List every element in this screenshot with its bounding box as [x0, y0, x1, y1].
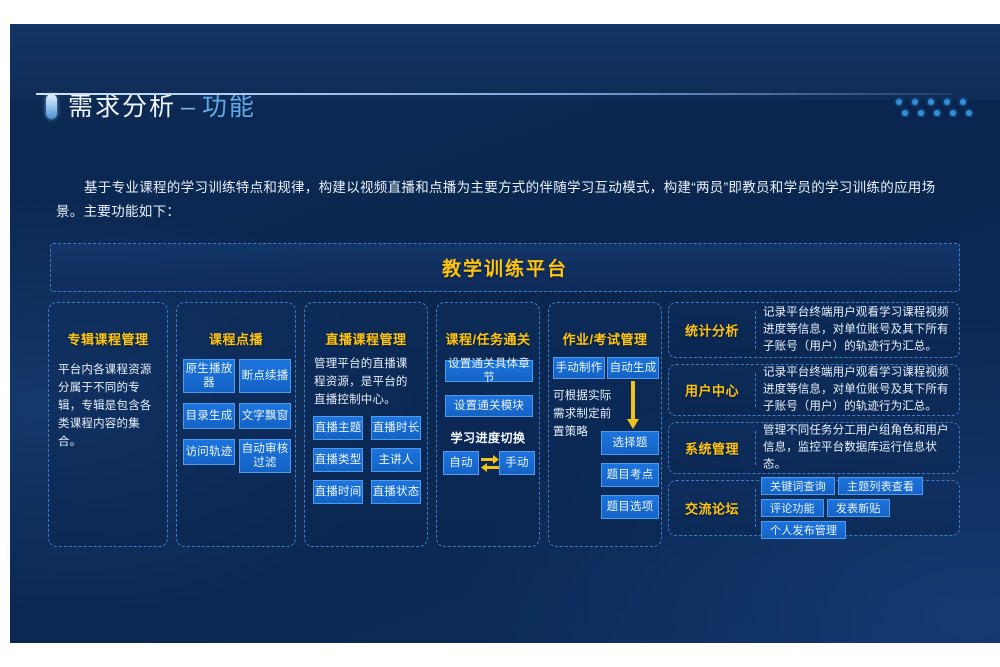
right-feature-row: 系统管理管理不同任务分工用户组角色和用户信息，监控平台数据库运行信息状态。 [668, 422, 960, 474]
feature-button[interactable]: 选择题 [601, 431, 659, 455]
right-feature-label: 交流论坛 [669, 499, 755, 518]
feature-button[interactable]: 题目考点 [601, 463, 659, 487]
tag-button[interactable]: 发表新贴 [827, 499, 890, 517]
toggle-manual-button[interactable]: 手动 [499, 451, 535, 475]
feature-column: 专辑课程管理平台内各课程资源分属于不同的专辑，专辑是包含各类课程内容的集合。 [48, 302, 168, 547]
right-feature-text: 记录平台终端用户观看学习课程视频进度等信息，对单位账号及其下所有子账号（用户）的… [763, 365, 951, 416]
platform-banner-title: 教学训练平台 [442, 254, 568, 281]
title-separator: – [181, 93, 197, 121]
feature-column: 课程点播原生播放器断点续播目录生成文字飘窗访问轨迹自动审核过滤 [176, 302, 296, 547]
tag-button[interactable]: 个人发布管理 [761, 521, 846, 539]
feature-column: 直播课程管理管理平台的直播课程资源，是平台的直播控制中心。直播主题直播时长直播类… [304, 302, 428, 547]
down-arrow-icon [625, 381, 641, 431]
right-feature-text: 管理不同任务分工用户组角色和用户信息，监控平台数据库运行信息状态。 [763, 423, 951, 474]
page-title-sub: 功能 [202, 93, 256, 121]
toggle-auto-button[interactable]: 自动 [443, 451, 479, 475]
dot [918, 110, 924, 116]
dot [960, 99, 966, 105]
tag-button[interactable]: 评论功能 [761, 499, 824, 517]
feature-button[interactable]: 直播类型 [313, 448, 363, 472]
feature-button[interactable]: 访问轨迹 [183, 439, 235, 465]
feature-column-description: 管理平台的直播课程资源，是平台的直播控制中心。 [314, 355, 418, 409]
feature-button[interactable]: 目录生成 [183, 403, 235, 429]
dot [950, 110, 956, 116]
feature-column: 作业/考试管理手动制作自动生成可根据实际需求制定前置策略选择题题目考点题目选项 [548, 302, 662, 547]
page-title-main: 需求分析 [68, 93, 176, 121]
page-title: 需求分析–功能 [68, 91, 256, 123]
right-feature-row: 统计分析记录平台终端用户观看学习课程视频进度等信息，对单位账号及其下所有子账号（… [668, 302, 960, 358]
right-feature-label: 统计分析 [669, 321, 755, 340]
feature-button[interactable]: 直播时间 [313, 480, 363, 504]
feature-button[interactable]: 断点续播 [239, 359, 291, 393]
feature-button[interactable]: 直播状态 [371, 480, 421, 504]
row-divider [755, 489, 756, 527]
feature-column-title: 作业/考试管理 [549, 329, 661, 348]
row-divider [755, 431, 756, 465]
feature-button[interactable]: 直播时长 [371, 416, 421, 440]
feature-button[interactable]: 原生播放器 [183, 359, 235, 393]
right-feature-row: 用户中心记录平台终端用户观看学习课程视频进度等信息，对单位账号及其下所有子账号（… [668, 364, 960, 416]
title-accent-bar [46, 94, 57, 119]
right-feature-text: 记录平台终端用户观看学习课程视频进度等信息，对单位账号及其下所有子账号（用户）的… [763, 305, 951, 356]
tag-button[interactable]: 关键词查询 [761, 477, 835, 495]
dot [966, 110, 972, 116]
dot [944, 99, 950, 105]
bidirectional-arrow-icon [479, 451, 501, 475]
slide-canvas: 需求分析–功能 基于专业课程的学习训练特点和规律，构建以视频直播和点播为主要方式… [10, 24, 1000, 643]
feature-column: 课程/任务通关设置通关具体章节设置通关模块学习进度切换自动手动 [436, 302, 540, 547]
feature-button[interactable]: 设置通关具体章节 [445, 360, 533, 382]
right-feature-label: 用户中心 [669, 381, 755, 400]
slide-header: 需求分析–功能 [10, 24, 1000, 100]
feature-button[interactable]: 直播主题 [313, 416, 363, 440]
right-feature-rows: 统计分析记录平台终端用户观看学习课程视频进度等信息，对单位账号及其下所有子账号（… [668, 302, 960, 547]
dot [934, 110, 940, 116]
feature-column-description: 平台内各课程资源分属于不同的专辑，专辑是包含各类课程内容的集合。 [58, 361, 158, 451]
feature-column-title: 课程点播 [177, 329, 295, 348]
tag-button[interactable]: 主题列表查看 [838, 477, 923, 495]
feature-button[interactable]: 手动制作 [553, 357, 605, 379]
right-feature-label: 系统管理 [669, 439, 755, 458]
feature-button[interactable]: 文字飘窗 [239, 403, 291, 429]
feature-button[interactable]: 自动生成 [607, 357, 659, 379]
feature-button[interactable]: 主讲人 [371, 448, 421, 472]
right-feature-row: 交流论坛关键词查询主题列表查看评论功能发表新贴个人发布管理 [668, 480, 960, 536]
dot [928, 99, 934, 105]
progress-switch-label: 学习进度切换 [437, 429, 539, 446]
row-divider [755, 311, 756, 349]
feature-column-title: 课程/任务通关 [437, 329, 539, 348]
feature-button[interactable]: 自动审核过滤 [239, 439, 291, 473]
row-divider [755, 373, 756, 407]
intro-paragraph: 基于专业课程的学习训练特点和规律，构建以视频直播和点播为主要方式的伴随学习互动模… [56, 176, 956, 224]
platform-banner: 教学训练平台 [50, 243, 960, 292]
dot [896, 99, 902, 105]
decorative-dot-grid [896, 97, 972, 119]
right-feature-tags: 关键词查询主题列表查看评论功能发表新贴个人发布管理 [761, 475, 953, 541]
feature-column-title: 专辑课程管理 [49, 329, 167, 348]
feature-button[interactable]: 题目选项 [601, 495, 659, 519]
dot [912, 99, 918, 105]
dot [902, 110, 908, 116]
feature-button[interactable]: 设置通关模块 [445, 395, 533, 417]
feature-column-title: 直播课程管理 [305, 329, 427, 348]
